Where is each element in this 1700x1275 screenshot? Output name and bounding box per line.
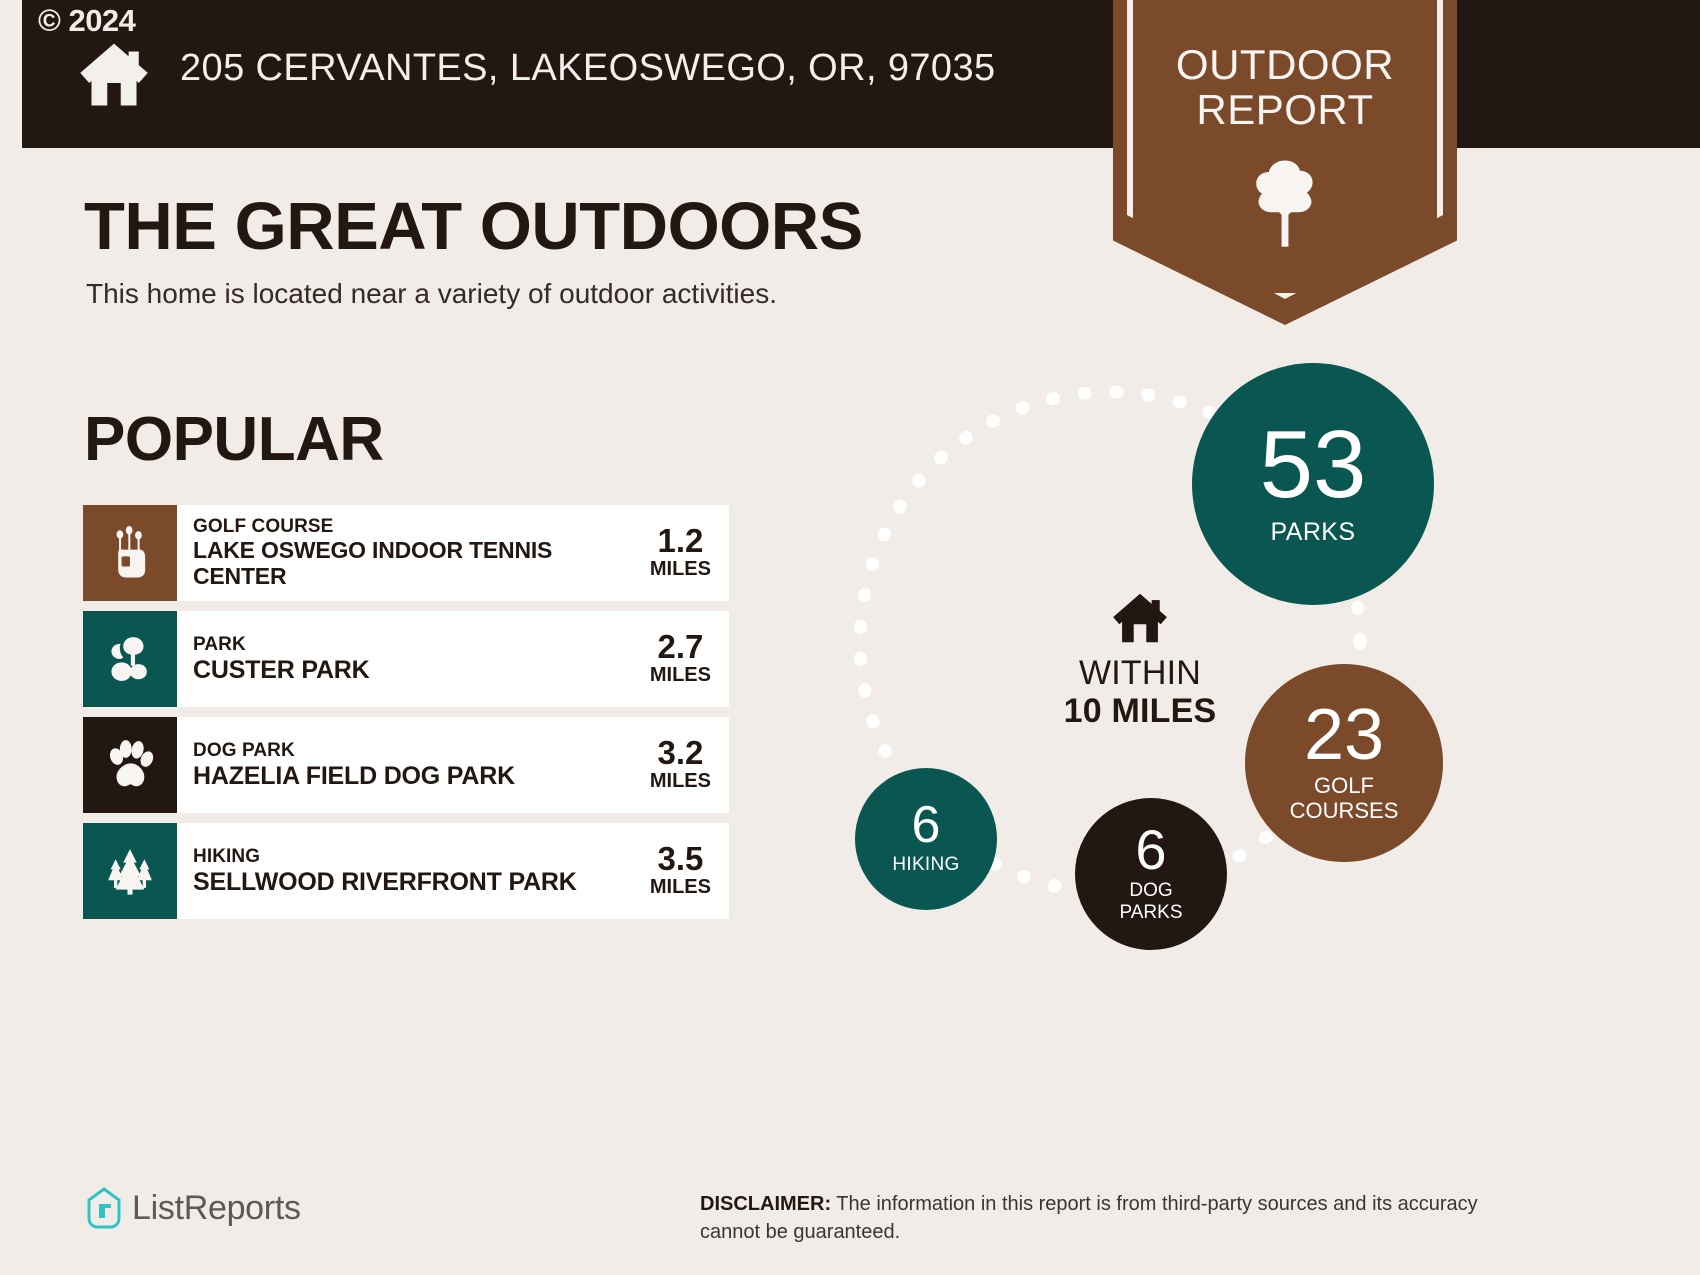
list-item[interactable]: DOG PARK HAZELIA FIELD DOG PARK 3.2 MILE… <box>83 717 729 813</box>
poi-distance-unit: MILES <box>650 769 711 794</box>
within-label: WITHIN <box>1015 654 1265 692</box>
section-title-popular: POPULAR <box>84 404 384 475</box>
poi-texts: DOG PARK HAZELIA FIELD DOG PARK <box>193 740 642 790</box>
poi-name: CUSTER PARK <box>193 656 642 684</box>
badge-title: OUTDOOR REPORT <box>1113 42 1457 133</box>
radius-label: 10 MILES <box>1015 692 1265 730</box>
stat-circle-hiking: 6 HIKING <box>855 768 997 910</box>
badge-line-2: REPORT <box>1113 87 1457 132</box>
poi-category: HIKING <box>193 846 642 868</box>
poi-category: GOLF COURSE <box>193 516 642 538</box>
badge-line-1: OUTDOOR <box>1176 41 1394 88</box>
poi-distance-unit: MILES <box>650 557 711 582</box>
property-address: 205 CERVANTES, LAKEOSWEGO, OR, 97035 <box>180 47 996 90</box>
poi-distance-unit: MILES <box>650 875 711 900</box>
poi-distance: 2.7 MILES <box>642 630 725 688</box>
poi-body: DOG PARK HAZELIA FIELD DOG PARK 3.2 MILE… <box>177 717 729 813</box>
home-icon <box>1111 592 1169 644</box>
disclaimer-label: DISCLAIMER: <box>700 1193 831 1215</box>
poi-distance-value: 1.2 <box>650 524 711 557</box>
stat-count-golf-courses: 23 <box>1304 702 1384 768</box>
home-icon <box>78 38 150 110</box>
stat-label-hiking: HIKING <box>892 854 959 876</box>
poi-distance-value: 3.2 <box>650 736 711 769</box>
page-title: THE GREAT OUTDOORS <box>84 188 863 265</box>
poi-distance-unit: MILES <box>650 663 711 688</box>
infographic-center-block: WITHIN 10 MILES <box>1015 592 1265 730</box>
stat-label-dog-line2: PARKS <box>1119 902 1182 924</box>
poi-body: GOLF COURSE LAKE OSWEGO INDOOR TENNIS CE… <box>177 505 729 601</box>
disclaimer: DISCLAIMER: The information in this repo… <box>700 1190 1500 1247</box>
stat-label-golf-line1: GOLF <box>1290 774 1399 799</box>
poi-distance: 3.5 MILES <box>642 842 725 900</box>
stat-label-golf-courses: GOLF COURSES <box>1290 774 1399 823</box>
poi-texts: GOLF COURSE LAKE OSWEGO INDOOR TENNIS CE… <box>193 516 642 589</box>
stat-count-hiking: 6 <box>912 802 941 850</box>
poi-name: LAKE OSWEGO INDOOR TENNIS CENTER <box>193 538 642 590</box>
park-trees-icon <box>103 632 157 686</box>
list-item[interactable]: GOLF COURSE LAKE OSWEGO INDOOR TENNIS CE… <box>83 505 729 601</box>
poi-name: SELLWOOD RIVERFRONT PARK <box>193 868 642 896</box>
stat-circle-parks: 53 PARKS <box>1192 363 1434 605</box>
paw-print-icon <box>103 738 157 792</box>
poi-icon-container <box>83 611 177 707</box>
poi-distance: 3.2 MILES <box>642 736 725 794</box>
poi-icon-container <box>83 717 177 813</box>
popular-list: GOLF COURSE LAKE OSWEGO INDOOR TENNIS CE… <box>83 505 729 929</box>
stat-count-parks: 53 <box>1260 421 1367 509</box>
poi-distance-value: 2.7 <box>650 630 711 663</box>
stat-circle-golf-courses: 23 GOLF COURSES <box>1245 664 1443 862</box>
poi-distance-value: 3.5 <box>650 842 711 875</box>
listreports-logo[interactable]: ListReports <box>85 1186 301 1230</box>
page-subtitle: This home is located near a variety of o… <box>86 278 777 310</box>
poi-body: PARK CUSTER PARK 2.7 MILES <box>177 611 729 707</box>
stat-label-parks: PARKS <box>1271 518 1356 547</box>
within-10-miles-infographic: 53 PARKS 23 GOLF COURSES 6 DOG PARKS 6 H… <box>800 330 1500 1050</box>
tree-icon <box>1249 157 1321 249</box>
stat-label-dog-parks: DOG PARKS <box>1119 880 1182 924</box>
copyright-notice: © 2024 <box>38 3 135 39</box>
poi-distance: 1.2 MILES <box>642 524 725 582</box>
stat-count-dog-parks: 6 <box>1135 824 1166 876</box>
stat-label-dog-line1: DOG <box>1119 880 1182 902</box>
poi-category: DOG PARK <box>193 740 642 762</box>
poi-texts: HIKING SELLWOOD RIVERFRONT PARK <box>193 846 642 896</box>
listreports-logo-icon <box>85 1186 123 1230</box>
poi-icon-container <box>83 823 177 919</box>
list-item[interactable]: HIKING SELLWOOD RIVERFRONT PARK 3.5 MILE… <box>83 823 729 919</box>
poi-texts: PARK CUSTER PARK <box>193 634 642 684</box>
golf-bag-icon <box>103 526 157 580</box>
poi-icon-container <box>83 505 177 601</box>
listreports-logo-text: ListReports <box>132 1189 301 1228</box>
poi-category: PARK <box>193 634 642 656</box>
stat-label-golf-line2: COURSES <box>1290 799 1399 824</box>
list-item[interactable]: PARK CUSTER PARK 2.7 MILES <box>83 611 729 707</box>
outdoor-report-page: © 2024 205 CERVANTES, LAKEOSWEGO, OR, 97… <box>0 0 1700 1275</box>
poi-body: HIKING SELLWOOD RIVERFRONT PARK 3.5 MILE… <box>177 823 729 919</box>
poi-name: HAZELIA FIELD DOG PARK <box>193 762 642 790</box>
stat-circle-dog-parks: 6 DOG PARKS <box>1075 798 1227 950</box>
pine-trees-icon <box>103 844 157 898</box>
